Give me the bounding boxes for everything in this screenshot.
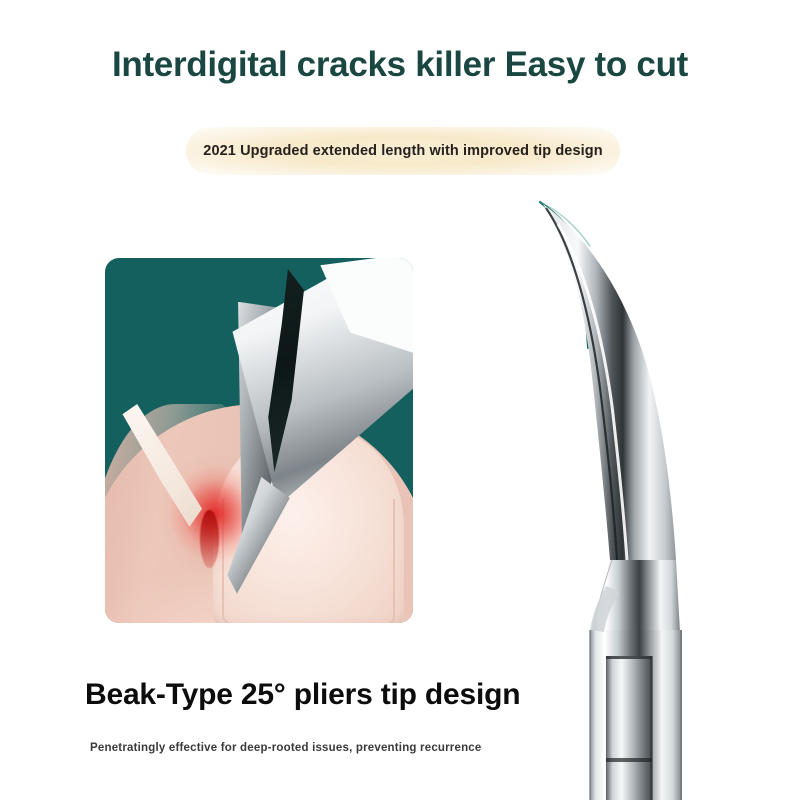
usage-photo-panel <box>105 258 413 623</box>
shaft-slot-top-edge <box>606 656 652 659</box>
shaft-slot-bottom-step <box>606 758 652 762</box>
product-hero-image <box>480 180 780 800</box>
product-marketing-image: Interdigital cracks killer Easy to cut 2… <box>0 0 800 800</box>
upgrade-badge: 2021 Upgraded extended length with impro… <box>186 127 620 175</box>
feature-subtitle: Penetratingly effective for deep-rooted … <box>90 742 482 754</box>
shaft-slot-right-edge <box>650 656 653 800</box>
feature-title: Beak-Type 25° pliers tip design <box>85 678 520 712</box>
upgrade-badge-label: 2021 Upgraded extended length with impro… <box>203 143 602 159</box>
nipper-tip-svg <box>480 180 780 800</box>
page-title: Interdigital cracks killer Easy to cut <box>0 46 800 85</box>
shaft-slot <box>606 656 652 800</box>
ingrown-nail-crack <box>200 510 218 568</box>
